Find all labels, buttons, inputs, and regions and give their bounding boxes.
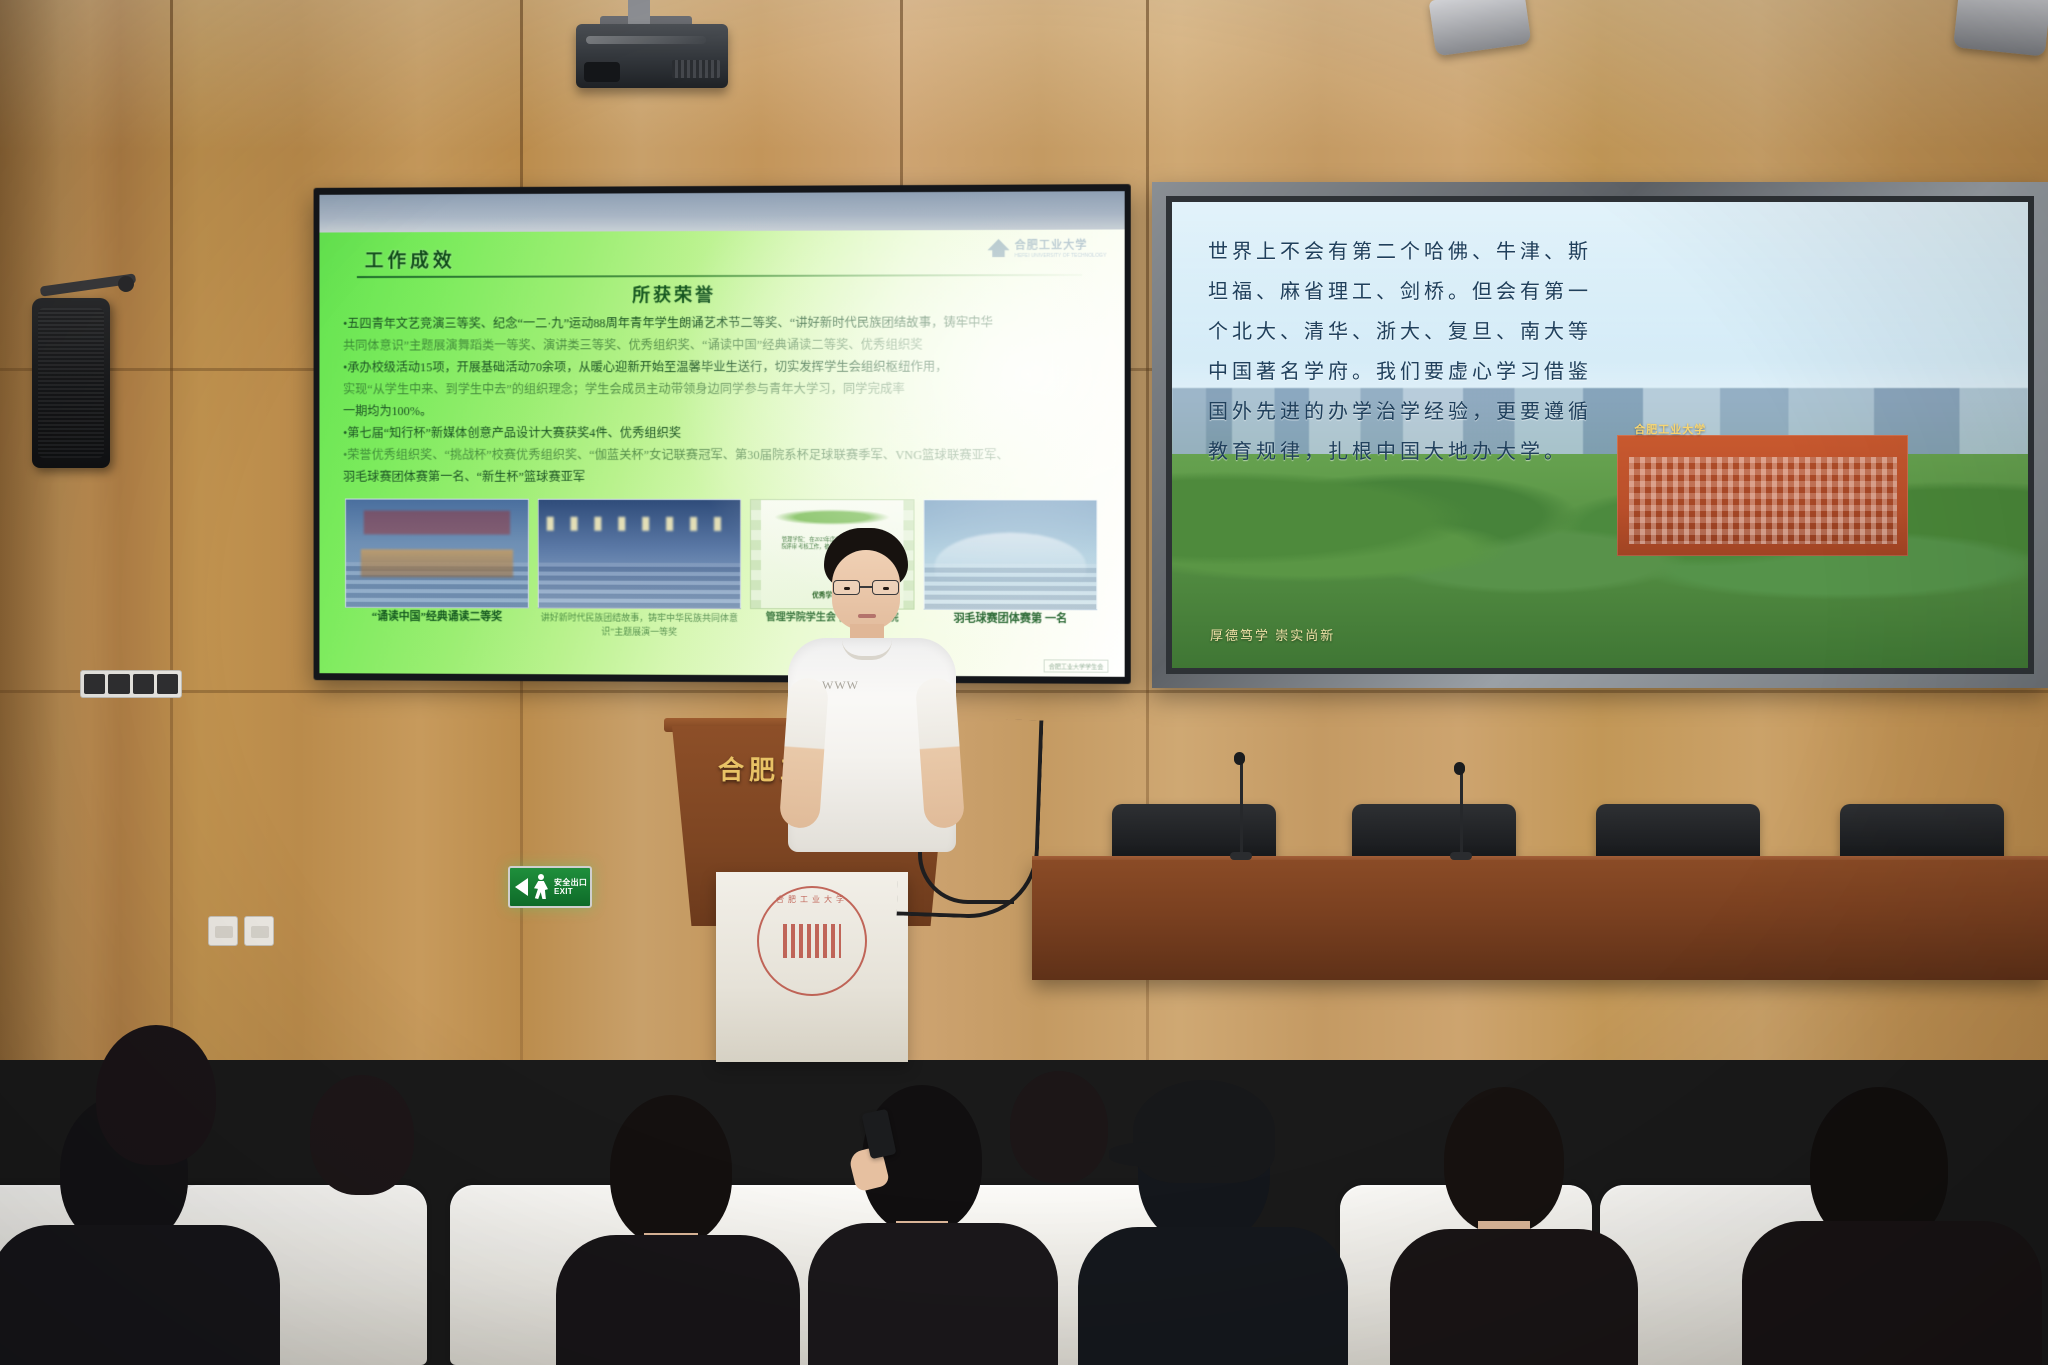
audience-shoulders bbox=[1390, 1229, 1638, 1365]
shirt-print: WWW bbox=[822, 678, 898, 704]
conference-table bbox=[1032, 860, 2048, 980]
projector-highlight bbox=[586, 36, 706, 44]
audience-shoulders bbox=[556, 1235, 800, 1365]
exit-label-cn: 安全出口 bbox=[554, 878, 587, 887]
glasses-lens-left bbox=[833, 580, 860, 595]
baseball-cap-icon bbox=[1133, 1080, 1276, 1183]
slide-photo-recital bbox=[345, 499, 529, 609]
outlet-socket[interactable] bbox=[157, 674, 178, 694]
logo-name: 合肥工业大学 bbox=[1015, 237, 1107, 253]
outlet-socket[interactable] bbox=[108, 674, 129, 694]
outlet-socket[interactable] bbox=[133, 674, 154, 694]
running-man-icon bbox=[531, 874, 551, 900]
building-windows bbox=[1629, 457, 1897, 544]
microphone-base bbox=[1230, 852, 1252, 860]
bullet-1-line-2: 共同体意识”主题展演舞蹈类一等奖、演讲类三等奖、优秀组织奖、“诵读中国”经典诵读… bbox=[343, 334, 1108, 356]
slide-photo-strip: 管理学院： 在2023年度学生会考核中，经学院评审 考核工作，被评定为： 优秀等… bbox=[345, 499, 1110, 611]
projection-screen: 合肥工业大学 HEFEI UNIVERSITY OF TECHNOLOGY 工作… bbox=[314, 184, 1131, 684]
wall-socket[interactable] bbox=[244, 916, 274, 946]
audience-head bbox=[1010, 1071, 1108, 1183]
glasses-lens-right bbox=[872, 580, 899, 595]
bullet-3-line-1: •第七届“知行杯”新媒体创意产品设计大赛获奖4件、优秀组织奖 bbox=[343, 423, 1108, 444]
audience-shoulders bbox=[0, 1225, 280, 1365]
projector-mount bbox=[628, 0, 650, 26]
table-microphone bbox=[1460, 770, 1463, 856]
bullet-2-line-2: 实现“从学生中来、到学生中去”的组织理念；学生会成员主动带领身边同学参与青年大学… bbox=[343, 379, 1108, 401]
power-outlet-strip[interactable] bbox=[80, 670, 182, 698]
picture-building-name: 合肥工业大学 bbox=[1634, 421, 1706, 437]
picture-mat: 合肥工业大学 世界上不会有第二个哈佛、牛津、斯坦福、麻省理工、剑桥。但会有第一个… bbox=[1166, 196, 2034, 674]
photo-banner bbox=[364, 510, 509, 534]
picture-canvas: 合肥工业大学 世界上不会有第二个哈佛、牛津、斯坦福、麻省理工、剑桥。但会有第一个… bbox=[1172, 202, 2028, 668]
wall-speaker bbox=[32, 298, 110, 468]
audience-shoulders bbox=[1742, 1221, 2042, 1365]
podium-base-panel: 合肥工业大学 bbox=[716, 872, 908, 1062]
exit-label-en: EXIT bbox=[554, 887, 587, 896]
microphone-head-icon bbox=[1454, 762, 1465, 775]
slide-heading: 所获荣誉 bbox=[319, 280, 1124, 308]
photo-audience-rows bbox=[539, 562, 740, 608]
audience-foreground bbox=[0, 1065, 2048, 1365]
glasses-bridge bbox=[860, 586, 872, 588]
university-logo: 合肥工业大学 HEFEI UNIVERSITY OF TECHNOLOGY bbox=[987, 236, 1106, 261]
audience-shoulders bbox=[1078, 1227, 1348, 1365]
photo-caption-1: “诵读中国”经典诵读二等奖 bbox=[345, 610, 529, 644]
podium-emblem-icon: 合肥工业大学 bbox=[757, 886, 867, 996]
bullet-4-line-1: •荣誉优秀组织奖、“挑战杯”校赛优秀组织奖、“伽蓝关杯”女记联赛冠军、第30届院… bbox=[343, 445, 1108, 466]
audience-head bbox=[96, 1025, 216, 1165]
outlet-socket[interactable] bbox=[84, 674, 105, 694]
presenter-mouth bbox=[858, 614, 876, 618]
audience-head-with-cap bbox=[1138, 1089, 1270, 1245]
picture-motto: 厚德笃学 崇实尚新 bbox=[1210, 625, 1335, 644]
speaker-grill bbox=[38, 308, 104, 458]
slide-footer: 合肥工业大学学生会 bbox=[1044, 659, 1109, 672]
presenter-eye bbox=[883, 587, 889, 590]
lecture-hall-scene: 安全出口 EXIT 合肥工业大学 HEFEI UNIVERSITY OF TEC… bbox=[0, 0, 2048, 1365]
presentation-slide: 合肥工业大学 HEFEI UNIVERSITY OF TECHNOLOGY 工作… bbox=[319, 229, 1124, 676]
wall-seam-horizontal bbox=[0, 690, 2048, 693]
certificate-border-left bbox=[751, 500, 761, 608]
wall-socket[interactable] bbox=[208, 916, 238, 946]
table-microphone bbox=[1240, 760, 1243, 856]
ceiling-projector bbox=[576, 24, 728, 88]
screen-top-band bbox=[319, 191, 1124, 232]
wall-highlight bbox=[0, 0, 2048, 150]
university-emblem-icon bbox=[987, 239, 1009, 257]
screen-surface: 合肥工业大学 HEFEI UNIVERSITY OF TECHNOLOGY 工作… bbox=[319, 191, 1124, 677]
photo-stage bbox=[361, 549, 514, 577]
glasses-icon bbox=[832, 580, 900, 596]
podium-emblem-text: 合肥工业大学 bbox=[759, 894, 865, 905]
slide-title-rule bbox=[357, 274, 1082, 278]
wall-seam bbox=[170, 0, 173, 1060]
slide-section-title: 工作成效 bbox=[365, 246, 456, 273]
microphone-base bbox=[1450, 852, 1472, 860]
cap-brim-icon bbox=[1109, 1142, 1223, 1167]
photo-caption-2: 讲好新时代民族团结故事，铸牢中华民族共同体意识”主题展演一等奖 bbox=[538, 610, 741, 645]
projector-lens-icon bbox=[584, 62, 620, 82]
exit-arrow-icon bbox=[515, 878, 528, 896]
picture-calligraphy-text: 世界上不会有第二个哈佛、牛津、斯坦福、麻省理工、剑桥。但会有第一个北大、清华、浙… bbox=[1208, 232, 1608, 472]
stage-spotlight-right bbox=[1953, 0, 2048, 57]
presenter-eye bbox=[844, 587, 850, 590]
wall-shadow bbox=[0, 0, 90, 1060]
audience-head bbox=[310, 1075, 414, 1195]
bullet-1-line-1: •五四青年文艺竞演三等奖、纪念“一二·九”运动88周年青年学生朗诵艺术节二等奖、… bbox=[343, 312, 1108, 335]
audience-head bbox=[610, 1095, 732, 1245]
slide-photo-captions: “诵读中国”经典诵读二等奖 讲好新时代民族团结故事，铸牢中华民族共同体意识”主题… bbox=[345, 610, 1110, 647]
emergency-exit-sign: 安全出口 EXIT bbox=[508, 866, 592, 908]
certificate-ribbon-icon bbox=[774, 509, 891, 525]
socket-face bbox=[251, 926, 269, 938]
bullet-2-line-3: 一期均为100%。 bbox=[343, 401, 1108, 422]
audience-head bbox=[1444, 1087, 1564, 1233]
logo-subtitle: HEFEI UNIVERSITY OF TECHNOLOGY bbox=[1015, 253, 1107, 259]
presenter: WWW bbox=[782, 528, 962, 848]
bullet-2-line-1: •承办校级活动15项，开展基础活动70余项，从暖心迎新开始至温馨毕业生送行，切实… bbox=[343, 356, 1108, 378]
bullet-4-line-2: 羽毛球赛团体赛第一名、“新生杯”篮球赛亚军 bbox=[343, 467, 1108, 489]
framed-campus-picture: 合肥工业大学 世界上不会有第二个哈佛、牛津、斯坦福、麻省理工、剑桥。但会有第一个… bbox=[1152, 182, 2048, 688]
slide-photo-performance bbox=[538, 499, 741, 609]
speaker-pivot bbox=[118, 276, 134, 292]
microphone-head-icon bbox=[1234, 752, 1245, 765]
photo-stage-lights bbox=[547, 517, 732, 531]
picture-campus-building bbox=[1617, 435, 1908, 556]
projector-vent bbox=[672, 60, 720, 78]
socket-face bbox=[215, 926, 233, 938]
slide-bullet-list: •五四青年文艺竞演三等奖、纪念“一二·九”运动88周年青年学生朗诵艺术节二等奖、… bbox=[343, 312, 1108, 489]
podium-emblem-shape bbox=[783, 924, 841, 958]
audience-shoulders bbox=[808, 1223, 1058, 1365]
